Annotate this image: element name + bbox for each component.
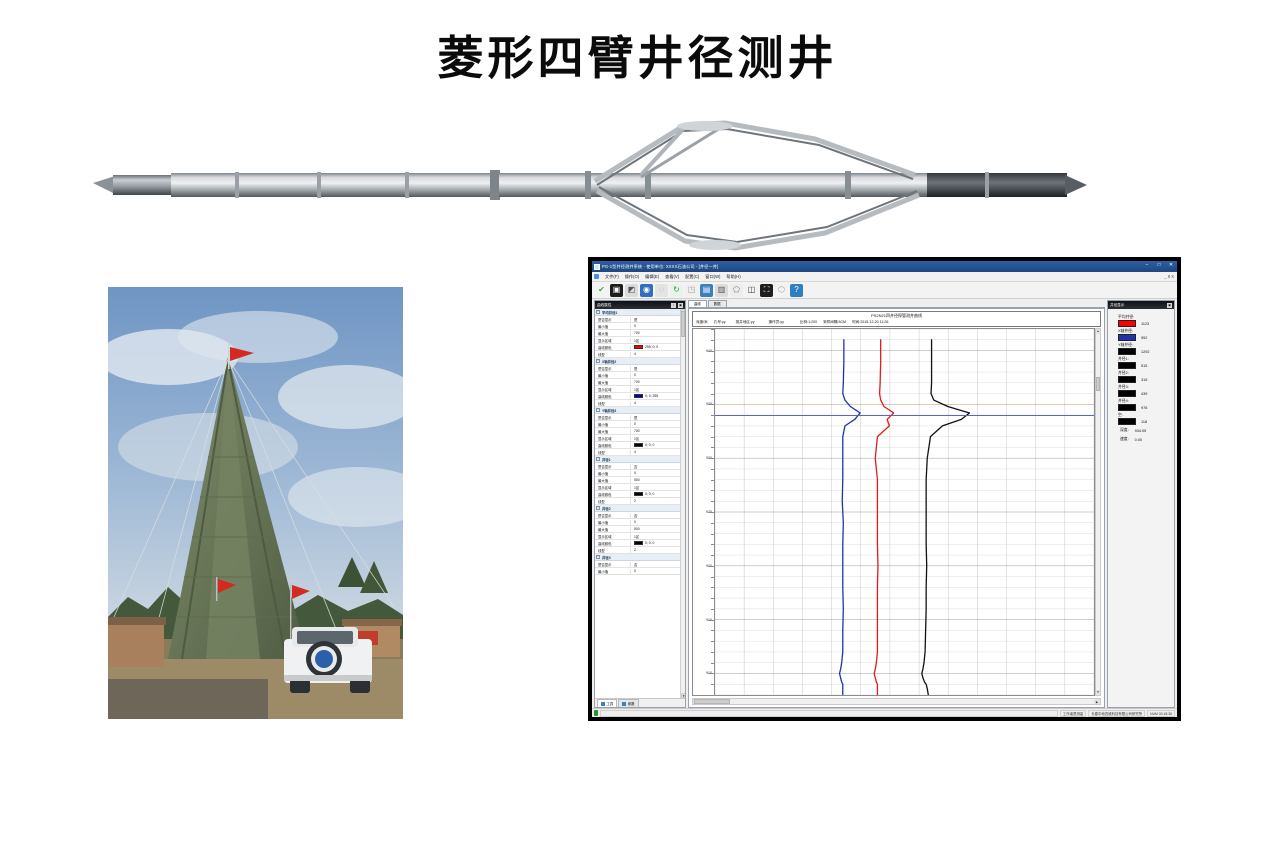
property-grid-scrollbar[interactable]: ▲ ▼ — [680, 309, 685, 698]
property-row[interactable]: 线型4 — [595, 351, 680, 358]
grid-two-icon[interactable]: ◫ — [745, 284, 758, 297]
property-value[interactable]: 2 — [631, 499, 680, 503]
caliper-legend-row: 平均井径:1123 — [1108, 314, 1174, 327]
property-value[interactable]: 1区 — [631, 534, 680, 539]
record-start-icon[interactable]: ◉ — [640, 284, 653, 297]
property-value[interactable]: 0; 0; 255 — [631, 394, 680, 399]
curve-properties-title: 曲线属性 — [597, 303, 611, 308]
color-swatch[interactable] — [634, 492, 643, 497]
caliper-legend-row: 井径1:515 — [1108, 356, 1174, 369]
property-key: 曲线颜色 — [595, 443, 631, 448]
menu-item-view[interactable]: 查看(V) — [662, 274, 682, 280]
property-row[interactable]: 曲线颜色0; 0; 0 — [595, 442, 680, 449]
tab-label: 参数 — [628, 700, 635, 708]
readout-row: 速度:0.00 — [1108, 436, 1174, 443]
caliper-legend-color-box — [1118, 362, 1136, 369]
menu-item-window[interactable]: 窗口(W) — [702, 274, 723, 280]
logging-software-window[interactable]: PG-1型井径测井系统 - 使用单位: XXXX石油公司 - [井径一井] − … — [589, 258, 1180, 720]
property-value-text: 是 — [634, 366, 637, 371]
property-value[interactable]: 1区 — [631, 338, 680, 343]
status-cell-company: 长春中地四维科技有限公司研究所 — [1088, 710, 1145, 717]
group-collapse-icon[interactable]: − — [596, 359, 600, 363]
status-cell-blank — [600, 710, 1058, 717]
caliper-tool-photo — [85, 115, 1095, 255]
property-value[interactable]: 否 — [631, 513, 680, 518]
property-key: 线型 — [595, 499, 631, 504]
curve-X轴井径 — [840, 340, 861, 695]
property-key: 是否显示 — [595, 317, 631, 322]
shield-icon[interactable]: ⬠ — [730, 284, 743, 297]
property-row[interactable]: 曲线颜色0; 0; 255 — [595, 393, 680, 400]
statusbar: 工作者是测量 长春中地四维科技有限公司研究所 NUM 00:18:36 — [592, 708, 1177, 717]
chart-meta-item: 孔号:yy — [714, 320, 726, 325]
property-row[interactable]: 最小值0 — [595, 372, 680, 379]
property-key: 最小值 — [595, 471, 631, 476]
property-value[interactable]: 4 — [631, 450, 680, 454]
caliper-legend-row: Y轴井径:1292 — [1108, 342, 1174, 355]
caliper-legend-color-box — [1118, 334, 1136, 341]
property-group-label: 平均井径1 — [602, 310, 617, 315]
chart-meta-item: 采样间隔:5CM — [823, 320, 846, 325]
property-value[interactable]: 0 — [631, 373, 680, 377]
caliper-legend-value: 1123 — [1141, 322, 1149, 326]
caliper-legend-value: 315 — [1141, 378, 1147, 382]
left-pane-tabs[interactable]: 工具参数 — [595, 698, 685, 707]
property-value[interactable]: 0 — [631, 324, 680, 328]
caliper-readout-body: 平均井径:1123X轴井径:952Y轴井径:1292井径1:515井径2:315… — [1108, 309, 1174, 707]
property-row[interactable]: 线型4 — [595, 449, 680, 456]
caliper-legend-value-row: 515 — [1118, 362, 1174, 369]
property-value[interactable]: 0; 0; 0 — [631, 492, 680, 497]
property-value-text: 1区 — [634, 436, 639, 441]
property-value-text: 500 — [634, 527, 640, 531]
app-icon — [594, 264, 600, 270]
menu-item-edit[interactable]: 编辑(E) — [642, 274, 662, 280]
chart-meta-item: 比例:1:200 — [800, 320, 817, 325]
property-value[interactable]: 500 — [631, 478, 680, 482]
property-group[interactable]: −井径3 — [595, 554, 680, 561]
property-key: 曲线颜色 — [595, 345, 631, 350]
caliper-legend-value-row: 439 — [1118, 390, 1174, 397]
check-icon[interactable]: ✔ — [595, 284, 608, 297]
readout-value: 934.05 — [1135, 429, 1147, 433]
menu-item-operation[interactable]: 操作(O) — [622, 274, 642, 280]
plot-scroll-thumb[interactable] — [1096, 377, 1100, 391]
property-key: 曲线颜色 — [595, 394, 631, 399]
property-value[interactable]: 1区 — [631, 387, 680, 392]
readout-label: 速度: — [1120, 436, 1129, 443]
property-row[interactable]: 最小值0 — [595, 568, 680, 575]
property-value[interactable]: 0; 0; 0 — [631, 443, 680, 448]
record-stop-icon[interactable]: ◌ — [655, 284, 668, 297]
chart-tab-曲线[interactable]: 曲线 — [688, 300, 707, 307]
property-key: 最小值 — [595, 373, 631, 378]
chart-tab-数据[interactable]: 数据 — [708, 300, 727, 307]
property-value-text: 0 — [634, 569, 636, 573]
property-value-text: 0 — [634, 471, 636, 475]
chart-meta-item: 测井地区:yy — [736, 320, 755, 325]
close-button[interactable]: ✕ — [1167, 262, 1175, 268]
readout-label: 深度: — [1120, 427, 1129, 434]
printer-icon[interactable]: ▥ — [715, 284, 728, 297]
window-titlebar: PG-1型井径测井系统 - 使用单位: XXXX石油公司 - [井径一井] − … — [592, 261, 1177, 272]
property-value[interactable]: 是 — [631, 366, 680, 371]
caliper-legend-row: 井径4:976 — [1108, 398, 1174, 411]
caliper-legend-value: 976 — [1141, 406, 1147, 410]
property-value-text: 0 — [634, 422, 636, 426]
caliper-legend-value: 1292 — [1141, 350, 1149, 354]
property-value-text: 是 — [634, 317, 637, 322]
property-key: 显示区域 — [595, 485, 631, 490]
property-value[interactable]: 2 — [631, 548, 680, 552]
property-row[interactable]: 最大值700 — [595, 428, 680, 435]
property-group-label: 井径1 — [602, 457, 611, 462]
caliper-readout-caption: 井径显示 ▣ — [1108, 301, 1174, 309]
curve-icon[interactable]: ◩ — [625, 284, 638, 297]
property-value-text: 是 — [634, 415, 637, 420]
property-value-text: 4 — [634, 450, 636, 454]
color-swatch[interactable] — [634, 394, 643, 399]
chart-meta-item: 时间:2015-12-20 11:26 — [852, 320, 888, 325]
field-site-photo — [108, 287, 403, 719]
property-key: 最小值 — [595, 520, 631, 525]
maximize-button[interactable]: □ — [1155, 262, 1163, 268]
caliper-legend-value-row: 1292 — [1118, 348, 1174, 355]
hscroll-right-arrow[interactable]: ▶ — [1094, 699, 1100, 704]
property-value-text: 4 — [634, 401, 636, 405]
pane-float-button[interactable]: ▣ — [678, 303, 683, 308]
depth-cursor-line[interactable] — [715, 415, 1094, 416]
property-value[interactable]: 4 — [631, 401, 680, 405]
caliper-legend-color-box — [1118, 404, 1136, 411]
property-value-text: 700 — [634, 331, 640, 335]
refresh-icon[interactable]: ↻ — [670, 284, 683, 297]
caliper-readout-pane[interactable]: 井径显示 ▣ 平均井径:1123X轴井径:952Y轴井径:1292井径1:515… — [1107, 300, 1175, 708]
property-value-text: 0; 0; 255 — [645, 394, 658, 398]
status-indicator-icon — [594, 710, 598, 716]
property-row[interactable]: 显示区域1区 — [595, 386, 680, 393]
shape-icon[interactable]: ⬡ — [775, 284, 788, 297]
property-key: 曲线颜色 — [595, 492, 631, 497]
property-key: 最大值 — [595, 331, 631, 336]
caliper-legend-color-box — [1118, 376, 1136, 383]
caliper-legend-value: 439 — [1141, 392, 1147, 396]
property-value-text: 255; 0; 0 — [645, 345, 658, 349]
property-row[interactable]: 显示区域1区 — [595, 533, 680, 540]
property-value-text: 0; 0; 0 — [645, 492, 654, 496]
caliper-legend-value-row: 952 — [1118, 334, 1174, 341]
property-key: 是否显示 — [595, 562, 631, 567]
property-row[interactable]: 曲线颜色0; 0; 0 — [595, 540, 680, 547]
scroll-thumb[interactable] — [681, 311, 685, 337]
readout-row: 深度:934.05 — [1108, 427, 1174, 434]
property-key: 曲线颜色 — [595, 541, 631, 546]
property-value-text: 否 — [634, 562, 637, 567]
property-value-text: 0; 0; 0 — [645, 541, 654, 545]
property-group[interactable]: −井径2 — [595, 505, 680, 512]
caliper-legend-color-box — [1118, 418, 1136, 425]
property-value[interactable]: 0 — [631, 422, 680, 426]
caliper-legend-color-box — [1118, 348, 1136, 355]
property-key: 线型 — [595, 548, 631, 553]
property-row[interactable]: 线型4 — [595, 400, 680, 407]
property-group[interactable]: −平均井径1 — [595, 309, 680, 316]
property-value[interactable]: 1区 — [631, 436, 680, 441]
window-controls[interactable]: − □ ✕ — [1143, 262, 1175, 268]
property-group[interactable]: −Y轴井径3 — [595, 407, 680, 414]
group-collapse-icon[interactable]: − — [596, 506, 600, 510]
caliper-legend-value-row: 118 — [1118, 418, 1174, 425]
property-row[interactable]: 是否显示是 — [595, 414, 680, 421]
plot-scroll-down-arrow[interactable]: ▼ — [1096, 690, 1100, 695]
caliper-legend-row: X轴井径:952 — [1108, 328, 1174, 341]
curve-properties-caption-buttons[interactable]: ⁃ ▣ — [671, 303, 683, 308]
property-value[interactable]: 700 — [631, 429, 680, 433]
property-value[interactable]: 否 — [631, 464, 680, 469]
chart-header: PS2N21四井径探管测井曲线 深度/米孔号:yy测井地区:yy操作员:yy比例… — [692, 311, 1101, 327]
menu-item-help[interactable]: 帮助(H) — [723, 274, 743, 280]
chart-meta-item: 操作员:yy — [769, 320, 784, 325]
pane-float-button-right[interactable]: ▣ — [1167, 303, 1172, 308]
open-file-icon[interactable]: ▣ — [610, 284, 623, 297]
property-key: 最小值 — [595, 422, 631, 427]
property-value[interactable]: 700 — [631, 380, 680, 384]
property-key: 是否显示 — [595, 513, 631, 518]
caliper-legend-value-row: 315 — [1118, 376, 1174, 383]
property-group-label: 井径3 — [602, 555, 611, 560]
status-cell-timer: NUM 00:18:36 — [1147, 710, 1175, 717]
group-collapse-icon[interactable]: − — [596, 457, 600, 461]
color-swatch[interactable] — [634, 443, 643, 448]
property-key: 线型 — [595, 450, 631, 455]
chart-container[interactable]: PS2N21四井径探管测井曲线 深度/米孔号:yy测井地区:yy操作员:yy比例… — [688, 308, 1105, 708]
property-value[interactable]: 是 — [631, 317, 680, 322]
left-pane-tab-工具[interactable]: 工具 — [597, 699, 617, 707]
curve-平均井径 — [874, 340, 893, 695]
page-icon[interactable]: ◳ — [685, 284, 698, 297]
property-group[interactable]: −X轴井径2 — [595, 358, 680, 365]
property-value-text: 2 — [634, 548, 636, 552]
property-value[interactable]: 0 — [631, 569, 680, 573]
window-title: PG-1型井径测井系统 - 使用单位: XXXX石油公司 - [井径一井] — [602, 264, 718, 270]
chart-tabs-filler — [728, 300, 1105, 307]
caliper-legend-color-box — [1118, 320, 1136, 327]
minimize-button[interactable]: − — [1143, 262, 1151, 268]
menu-item-file[interactable]: 文件(F) — [602, 274, 622, 280]
property-row[interactable]: 显示区域1区 — [595, 484, 680, 491]
depth-axis: 940935930925920915910 — [692, 328, 714, 696]
property-value-text: 2 — [634, 499, 636, 503]
property-key: 显示区域 — [595, 436, 631, 441]
caliper-legend-value-row: 1123 — [1118, 320, 1174, 327]
property-value-text: 0 — [634, 520, 636, 524]
help-icon[interactable]: ? — [790, 284, 803, 297]
group-collapse-icon[interactable]: − — [596, 555, 600, 559]
plot-area[interactable]: 940935930925920915910 ▲ ▼ — [692, 328, 1101, 696]
property-value[interactable]: 500 — [631, 527, 680, 531]
property-key: 最小值 — [595, 324, 631, 329]
property-key: 最小值 — [595, 569, 631, 574]
group-collapse-icon[interactable]: − — [596, 310, 600, 314]
plot-horizontal-scrollbar[interactable]: ◀ ▶ — [692, 698, 1101, 705]
menubar[interactable]: 文件(F) 操作(O) 编辑(E) 查看(V) 配置(C) 窗口(W) 帮助(H… — [592, 272, 1177, 282]
property-row[interactable]: 最小值0 — [595, 421, 680, 428]
property-group-label: X轴井径2 — [602, 359, 616, 364]
property-value-text: 0 — [634, 324, 636, 328]
property-group-label: Y轴井径3 — [602, 408, 616, 413]
curve-properties-caption: 曲线属性 ⁃ ▣ — [595, 301, 685, 309]
property-key: 线型 — [595, 401, 631, 406]
property-value[interactable]: 0 — [631, 471, 680, 475]
group-collapse-icon[interactable]: − — [596, 408, 600, 412]
property-row[interactable]: 是否显示是 — [595, 316, 680, 323]
hscroll-thumb[interactable] — [694, 699, 730, 704]
property-row[interactable]: 最大值700 — [595, 330, 680, 337]
property-row[interactable]: 最大值700 — [595, 379, 680, 386]
property-key: 显示区域 — [595, 387, 631, 392]
readout-value: 0.00 — [1135, 438, 1142, 442]
property-row[interactable]: 最小值0 — [595, 519, 680, 526]
caliper-readout-title: 井径显示 — [1110, 303, 1124, 308]
property-row[interactable]: 是否显示否 — [595, 561, 680, 568]
property-row[interactable]: 显示区域1区 — [595, 435, 680, 442]
property-value-text: 700 — [634, 429, 640, 433]
monitor-icon[interactable]: ▤ — [700, 284, 713, 297]
property-row[interactable]: 曲线颜色0; 0; 0 — [595, 491, 680, 498]
plot-vertical-scrollbar[interactable]: ▲ ▼ — [1095, 328, 1101, 696]
property-value-text: 0; 0; 0 — [645, 443, 654, 447]
property-row[interactable]: 是否显示否 — [595, 512, 680, 519]
property-value-text: 500 — [634, 478, 640, 482]
property-value-text: 1区 — [634, 387, 639, 392]
property-value-text: 否 — [634, 464, 637, 469]
chart-tabs[interactable]: 曲线数据 — [688, 300, 1105, 308]
document-icon — [594, 274, 599, 279]
property-key: 线型 — [595, 352, 631, 357]
property-value-text: 1区 — [634, 338, 639, 343]
status-cell-mode: 工作者是测量 — [1060, 710, 1086, 717]
property-row[interactable]: 是否显示否 — [595, 463, 680, 470]
menu-item-config[interactable]: 配置(C) — [682, 274, 702, 280]
caliper-legend-value: 118 — [1141, 420, 1147, 424]
property-value[interactable]: 否 — [631, 562, 680, 567]
property-row[interactable]: 显示区域1区 — [595, 337, 680, 344]
property-value[interactable]: 4 — [631, 352, 680, 356]
caliper-legend-row: 空:118 — [1108, 412, 1174, 425]
property-value[interactable]: 0 — [631, 520, 680, 524]
curve-track[interactable] — [714, 328, 1095, 696]
property-key: 是否显示 — [595, 366, 631, 371]
property-key: 是否显示 — [595, 464, 631, 469]
property-key: 显示区域 — [595, 534, 631, 539]
property-value-text: 1区 — [634, 534, 639, 539]
document-window-controls[interactable]: _ 8 X — [1164, 274, 1174, 279]
property-row[interactable]: 线型2 — [595, 547, 680, 554]
property-value-text: 700 — [634, 380, 640, 384]
caliper-legend-row: 井径3:439 — [1108, 384, 1174, 397]
pane-collapse-button[interactable]: ⁃ — [671, 303, 676, 308]
property-value[interactable]: 0; 0; 0 — [631, 541, 680, 546]
curve-properties-pane[interactable]: 曲线属性 ⁃ ▣ −平均井径1是否显示是最小值0最大值700显示区域1区曲线颜色… — [594, 300, 686, 708]
toolbar[interactable]: ✔▣◩◉◌↻◳▤▥⬠◫⛶⬡? — [592, 282, 1177, 299]
property-group[interactable]: −井径1 — [595, 456, 680, 463]
caliper-legend-row: 井径2:315 — [1108, 370, 1174, 383]
property-key: 最大值 — [595, 429, 631, 434]
property-row[interactable]: 最大值500 — [595, 477, 680, 484]
tab-icon — [601, 702, 605, 706]
property-key: 最大值 — [595, 380, 631, 385]
chart-pane[interactable]: 曲线数据 PS2N21四井径探管测井曲线 深度/米孔号:yy测井地区:yy操作员… — [688, 300, 1105, 708]
property-value-text: 否 — [634, 513, 637, 518]
caliper-legend-value: 515 — [1141, 364, 1147, 368]
property-row[interactable]: 最小值0 — [595, 323, 680, 330]
property-value[interactable]: 255; 0; 0 — [631, 345, 680, 350]
tab-label: 工具 — [607, 700, 614, 708]
property-row[interactable]: 最大值500 — [595, 526, 680, 533]
property-row[interactable]: 最小值0 — [595, 470, 680, 477]
property-key: 最大值 — [595, 527, 631, 532]
property-row[interactable]: 是否显示是 — [595, 365, 680, 372]
property-value-text: 0 — [634, 373, 636, 377]
property-key: 最大值 — [595, 478, 631, 483]
dice-icon[interactable]: ⛶ — [760, 284, 773, 297]
color-swatch[interactable] — [634, 345, 643, 350]
caliper-legend-value: 952 — [1141, 336, 1147, 340]
property-value[interactable]: 是 — [631, 415, 680, 420]
property-value[interactable]: 700 — [631, 331, 680, 335]
curve-Y轴井径 — [922, 340, 970, 695]
property-value[interactable]: 1区 — [631, 485, 680, 490]
property-key: 是否显示 — [595, 415, 631, 420]
page-title: 菱形四臂井径测井 — [0, 22, 1275, 88]
property-row[interactable]: 曲线颜色255; 0; 0 — [595, 344, 680, 351]
caliper-legend-color-box — [1118, 390, 1136, 397]
chart-meta: 深度/米孔号:yy测井地区:yy操作员:yy比例:1:200采样间隔:5CM时间… — [693, 319, 1100, 325]
tab-icon — [622, 702, 626, 706]
color-swatch[interactable] — [634, 541, 643, 546]
caliper-legend-value-row: 976 — [1118, 404, 1174, 411]
property-value-text: 1区 — [634, 485, 639, 490]
property-grid[interactable]: −平均井径1是否显示是最小值0最大值700显示区域1区曲线颜色255; 0; 0… — [595, 309, 685, 698]
chart-meta-item: 深度/米 — [696, 320, 708, 325]
left-pane-tab-参数[interactable]: 参数 — [618, 699, 638, 707]
property-row[interactable]: 线型2 — [595, 498, 680, 505]
scroll-down-arrow[interactable]: ▼ — [681, 693, 685, 698]
plot-scroll-up-arrow[interactable]: ▲ — [1096, 329, 1100, 334]
property-group-label: 井径2 — [602, 506, 611, 511]
property-key: 显示区域 — [595, 338, 631, 343]
curve-plot — [715, 329, 1094, 695]
property-value-text: 4 — [634, 352, 636, 356]
